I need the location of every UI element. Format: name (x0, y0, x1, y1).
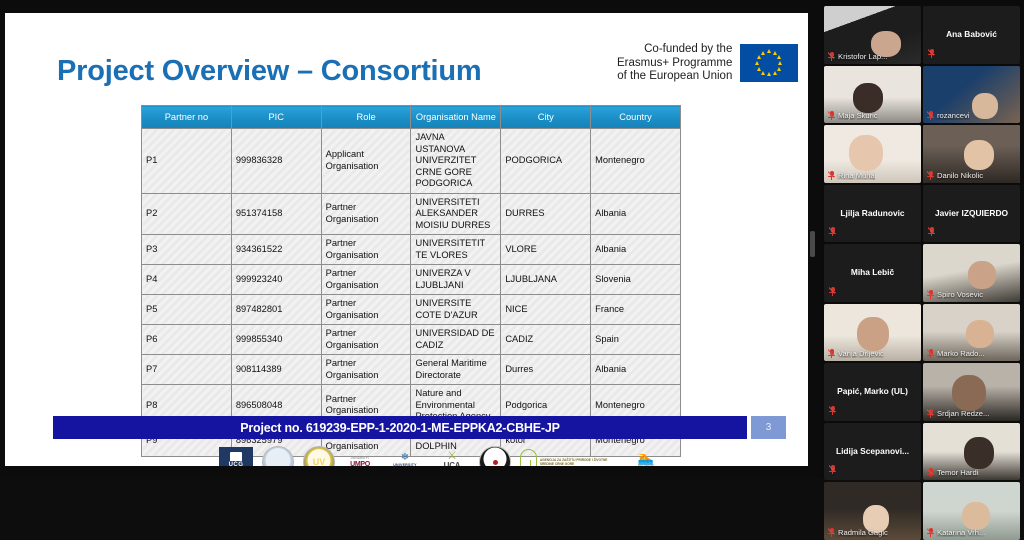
microphone-muted-icon (829, 406, 836, 415)
table-row: P1999836328Applicant OrganisationJAVNA U… (142, 129, 681, 194)
book-shape (230, 452, 242, 461)
cell-country: Montenegro (591, 129, 681, 194)
cell-pic: 999855340 (231, 325, 321, 355)
cell-partner-no: P3 (142, 235, 232, 265)
participant-name-centered: Javier IZQUIERDO (931, 208, 1012, 219)
ucg-logo-label: UCG (229, 462, 244, 466)
eu-star-icon (778, 61, 782, 65)
screen-share-meeting-window: Project Overview – Consortium Co-funded … (0, 0, 1024, 478)
participant-name-centered: Papić, Marko (UL) (833, 386, 912, 397)
participant-nameplate: Maja Skuric (828, 111, 878, 120)
cell-pic: 999836328 (231, 129, 321, 194)
microphone-muted-icon (927, 111, 934, 120)
cell-city: DURRES (501, 193, 591, 235)
snowflake-icon: ❄ (401, 453, 409, 462)
participant-tile[interactable]: Temor Hardi (923, 423, 1020, 481)
microphone-muted-icon (829, 465, 836, 474)
participant-nameplate (928, 227, 935, 236)
participant-name-label: rozancevi (937, 111, 970, 120)
cell-role: Partner Organisation (321, 295, 411, 325)
cell-country: Spain (591, 325, 681, 355)
participant-nameplate (829, 227, 836, 236)
column-header-pic: PIC (231, 106, 321, 129)
cell-city: NICE (501, 295, 591, 325)
cell-city: VLORE (501, 235, 591, 265)
cell-city: Durres (501, 355, 591, 385)
partner-logo-strip: UCG UNIVERZITET CRNE GORE UV UNIVERSITY … (219, 446, 599, 466)
participant-tile[interactable]: Ljilja Radunovic (824, 185, 921, 243)
table-row: P5897482801Partner OrganisationUNIVERSIT… (142, 295, 681, 325)
eu-star-icon (773, 71, 777, 75)
table-row: P6999855340Partner OrganisationUNIVERSID… (142, 325, 681, 355)
microphone-muted-icon (927, 468, 934, 477)
column-header-city: City (501, 106, 591, 129)
participant-tile[interactable]: Radmila Gagic (824, 482, 921, 540)
cell-role: Partner Organisation (321, 235, 411, 265)
cell-country: Albania (591, 235, 681, 265)
participant-nameplate: Srdjan Redze... (927, 409, 989, 418)
table-row: P2951374158Partner OrganisationUNIVERSIT… (142, 193, 681, 235)
uamd-logo (262, 446, 294, 466)
eu-star-icon (761, 71, 765, 75)
participant-nameplate (829, 406, 836, 415)
cell-organisation-name: UNIVERSITETIT TE VLORES (411, 235, 501, 265)
project-number-bar: Project no. 619239-EPP-1-2020-1-ME-EPPKA… (53, 416, 747, 439)
participant-name-label: Rina Muhaj (838, 171, 876, 180)
environment-agency-label: AGENCIJA ZA ZAŠTITU PRIRODE I ŽIVOTNE SR… (540, 458, 616, 466)
cell-city: PODGORICA (501, 129, 591, 194)
participant-name-label: Katarina Vrh... (937, 528, 985, 537)
microphone-muted-icon (927, 290, 934, 299)
table-header-row: Partner no PIC Role Organisation Name Ci… (142, 106, 681, 129)
cell-pic: 951374158 (231, 193, 321, 235)
ucg-logo: UCG UNIVERZITET CRNE GORE (219, 447, 253, 466)
participant-tile[interactable]: Rina Muhaj (824, 125, 921, 183)
participant-nameplate: Vanja Drljevic (828, 349, 884, 358)
participant-name-label: Kristofor Lap... (838, 52, 887, 61)
participant-name-label: Spiro Vosevic (937, 290, 983, 299)
cell-organisation-name: UNIVERSIDAD DE CADIZ (411, 325, 501, 355)
project-number-label: Project no. 619239-EPP-1-2020-1-ME-EPPKA… (240, 421, 559, 435)
column-header-partner-no: Partner no (142, 106, 232, 129)
umpo-logo-label: UMPO (350, 461, 370, 467)
participant-tile[interactable]: Lidija Scepanovi... (824, 423, 921, 481)
microphone-muted-icon (927, 409, 934, 418)
participant-video-roster[interactable]: Kristofor Lap...Ana BabovićMaja Skuricro… (820, 0, 1024, 478)
tree-icon (520, 449, 537, 466)
participant-tile[interactable]: Vanja Drljevic (824, 304, 921, 362)
participant-tile[interactable]: Kristofor Lap... (824, 6, 921, 64)
anchor-icon (493, 460, 498, 465)
microphone-muted-icon (928, 49, 935, 58)
ul-logo-label: UNIVERSITY (393, 463, 417, 467)
participant-nameplate: Kristofor Lap... (828, 52, 887, 61)
participant-tile[interactable]: Spiro Vosevic (923, 244, 1020, 302)
participant-name-centered: Lidija Scepanovi... (832, 446, 913, 457)
eu-star-icon (761, 51, 765, 55)
participant-nameplate (928, 49, 935, 58)
delfin-logo: 🏊 ECO CENTER DELFIN (625, 448, 667, 466)
eu-star-icon (755, 61, 759, 65)
participant-name-label: Radmila Gagic (838, 528, 888, 537)
microphone-muted-icon (828, 349, 835, 358)
cell-partner-no: P4 (142, 265, 232, 295)
eu-star-icon (777, 67, 781, 71)
eu-cofunding-text: Co-funded by the Erasmus+ Programme of t… (617, 43, 732, 84)
cell-role: Partner Organisation (321, 355, 411, 385)
column-header-organisation-name: Organisation Name (411, 106, 501, 129)
participant-tile[interactable]: Javier IZQUIERDO (923, 185, 1020, 243)
participant-name-label: Srdjan Redze... (937, 409, 989, 418)
participant-tile[interactable]: Maja Skuric (824, 66, 921, 124)
microphone-muted-icon (927, 171, 934, 180)
eu-star-icon (757, 67, 761, 71)
participant-tile[interactable]: Srdjan Redze... (923, 363, 1020, 421)
slide-title: Project Overview – Consortium (57, 55, 482, 88)
eu-text-line-2: Erasmus+ Programme (617, 57, 732, 71)
consortium-partners-table: Partner no PIC Role Organisation Name Ci… (141, 105, 681, 457)
microphone-muted-icon (828, 52, 835, 61)
participant-nameplate: Spiro Vosevic (927, 290, 983, 299)
participant-nameplate: Danilo Nikolic (927, 171, 983, 180)
univlora-logo-label: UV (313, 457, 326, 466)
uca-logo-label: UCA (444, 461, 461, 466)
panel-resize-handle[interactable] (810, 231, 815, 257)
participant-nameplate (829, 287, 836, 296)
microphone-muted-icon (927, 528, 934, 537)
participant-tile[interactable]: Danilo Nikolic (923, 125, 1020, 183)
cell-role: Applicant Organisation (321, 129, 411, 194)
microphone-muted-icon (828, 171, 835, 180)
participant-nameplate (829, 465, 836, 474)
participant-tile[interactable]: Papić, Marko (UL) (824, 363, 921, 421)
table-row: P4999923240Partner OrganisationUNIVERZA … (142, 265, 681, 295)
participant-tile[interactable]: Marko Rado... (923, 304, 1020, 362)
participant-name-label: Vanja Drljevic (838, 349, 884, 358)
eu-star-icon (777, 55, 781, 59)
participant-name-label: Marko Rado... (937, 349, 985, 358)
cell-country: Slovenia (591, 265, 681, 295)
microphone-muted-icon (828, 111, 835, 120)
table-body: P1999836328Applicant OrganisationJAVNA U… (142, 129, 681, 457)
cell-partner-no: P7 (142, 355, 232, 385)
cell-organisation-name: General Maritime Directorate (411, 355, 501, 385)
column-header-country: Country (591, 106, 681, 129)
participant-nameplate: Marko Rado... (927, 349, 985, 358)
participant-nameplate: Temor Hardi (927, 468, 978, 477)
cell-pic: 999923240 (231, 265, 321, 295)
cell-country: Albania (591, 355, 681, 385)
cell-partner-no: P6 (142, 325, 232, 355)
cell-organisation-name: UNIVERSITE COTE D'AZUR (411, 295, 501, 325)
eu-star-icon (767, 49, 771, 53)
participant-name-centered: Miha Lebič (847, 267, 898, 278)
participant-name-label: Temor Hardi (937, 468, 978, 477)
shared-screen-stage: Project Overview – Consortium Co-funded … (0, 0, 820, 478)
cell-city: LJUBLJANA (501, 265, 591, 295)
cell-city: CADIZ (501, 325, 591, 355)
microphone-muted-icon (927, 349, 934, 358)
maritime-directorate-logo (479, 446, 511, 466)
cell-pic: 897482801 (231, 295, 321, 325)
dolphin-icon: 🏊 (638, 452, 654, 464)
participant-tile[interactable]: Katarina Vrh... (923, 482, 1020, 540)
cell-organisation-name: UNIVERSITETI ALEKSANDER MOISIU DURRES (411, 193, 501, 235)
slide-page-number: 3 (751, 416, 786, 439)
eu-text-line-3: of the European Union (617, 70, 732, 84)
cell-role: Partner Organisation (321, 325, 411, 355)
participant-tile[interactable]: rozancevi (923, 66, 1020, 124)
cell-country: France (591, 295, 681, 325)
participant-name-centered: Ljilja Radunovic (836, 208, 908, 219)
cell-role: Partner Organisation (321, 265, 411, 295)
cell-role: Partner Organisation (321, 193, 411, 235)
participant-tile[interactable]: Ana Babović (923, 6, 1020, 64)
eu-star-icon (767, 72, 771, 76)
participant-name-label: Danilo Nikolic (937, 171, 983, 180)
european-union-flag-icon (740, 44, 798, 82)
participant-name-label: Maja Skuric (838, 111, 878, 120)
participant-nameplate: Rina Muhaj (828, 171, 876, 180)
eu-cofunding-block: Co-funded by the Erasmus+ Programme of t… (617, 43, 798, 84)
participant-nameplate: rozancevi (927, 111, 970, 120)
participant-nameplate: Katarina Vrh... (927, 528, 985, 537)
eu-star-icon (757, 55, 761, 59)
umpo-logo-top: UNIVERSITY (351, 457, 370, 460)
university-ljubljana-logo: ❄ UNIVERSITY OF LJUBLJANA (385, 449, 425, 466)
umpo-logo: UNIVERSITY UMPO (344, 449, 376, 466)
cell-partner-no: P1 (142, 129, 232, 194)
environment-agency-logo: AGENCIJA ZA ZAŠTITU PRIRODE I ŽIVOTNE SR… (520, 448, 616, 466)
microphone-muted-icon (829, 287, 836, 296)
cell-country: Albania (591, 193, 681, 235)
column-header-role: Role (321, 106, 411, 129)
cell-pic: 908114389 (231, 355, 321, 385)
microphone-muted-icon (828, 528, 835, 537)
cell-pic: 934361522 (231, 235, 321, 265)
table-row: P7908114389Partner OrganisationGeneral M… (142, 355, 681, 385)
univlora-logo: UV (303, 446, 335, 466)
cell-partner-no: P5 (142, 295, 232, 325)
eu-text-line-1: Co-funded by the (617, 43, 732, 57)
table-row: P3934361522Partner OrganisationUNIVERSIT… (142, 235, 681, 265)
participant-name-centered: Ana Babović (942, 29, 1001, 40)
participant-tile[interactable]: Miha Lebič (824, 244, 921, 302)
leaf-icon: ⚔ (447, 451, 457, 461)
participant-nameplate: Radmila Gagic (828, 528, 888, 537)
cell-organisation-name: JAVNA USTANOVA UNIVERZITET CRNE GORE POD… (411, 129, 501, 194)
cell-organisation-name: UNIVERZA V LJUBLJANI (411, 265, 501, 295)
page-number-label: 3 (766, 422, 772, 433)
microphone-muted-icon (928, 227, 935, 236)
microphone-muted-icon (829, 227, 836, 236)
uca-logo: ⚔ UCA UNIVERSIDAD DE CADIZ (434, 448, 470, 466)
cell-partner-no: P2 (142, 193, 232, 235)
presentation-slide: Project Overview – Consortium Co-funded … (5, 13, 808, 466)
